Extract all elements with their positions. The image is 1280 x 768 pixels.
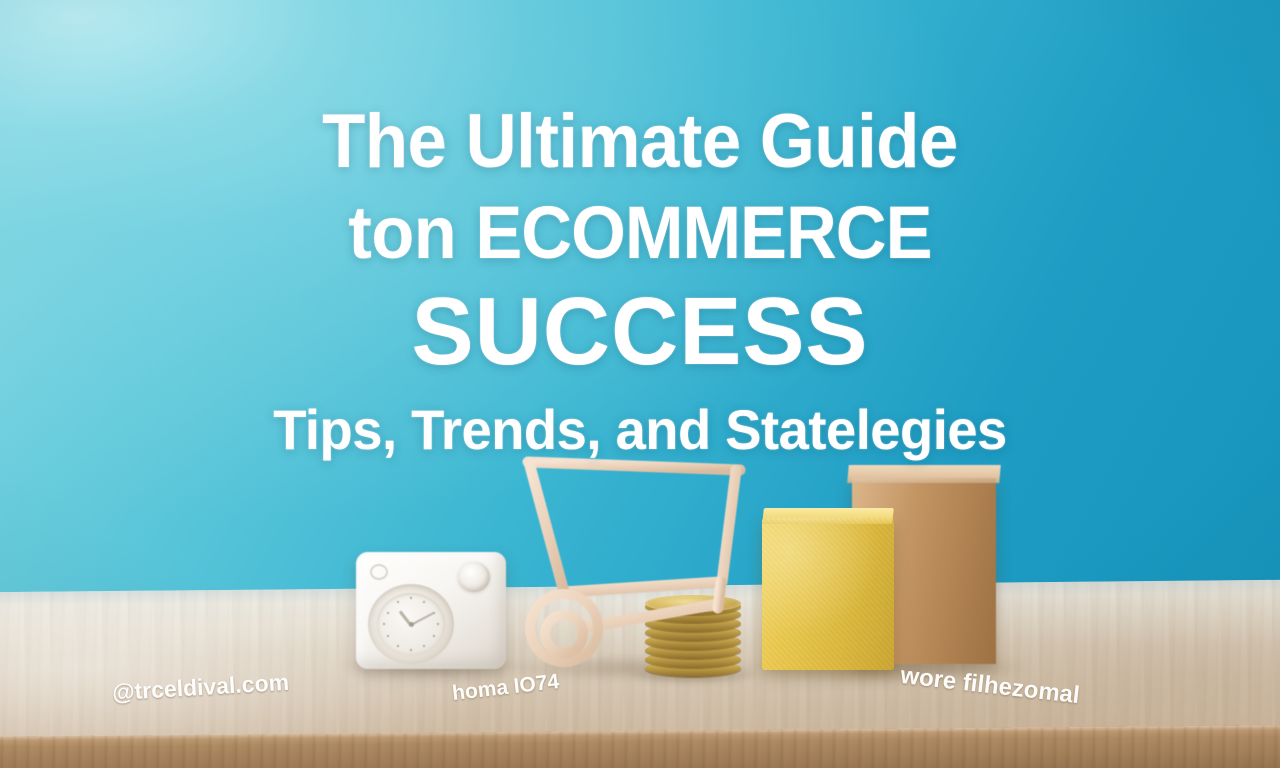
clock-face	[377, 593, 445, 655]
shopping-cart-icon	[512, 432, 792, 680]
clock-tick-7	[397, 645, 399, 647]
clock-tick-5	[423, 645, 425, 647]
clock-tick-4	[433, 635, 435, 637]
headline-line-2-caps: ECOMMERCE	[475, 191, 931, 274]
headline-line-1: The Ultimate Guide	[45, 104, 1235, 180]
clock-tick-11	[397, 601, 399, 603]
headline-line-4: Tips, Trends, and Statelegies	[19, 402, 1261, 458]
headline-line-2-lowercase: ton	[348, 191, 475, 274]
clock-tick-10	[387, 612, 389, 614]
clock-knob	[458, 562, 490, 592]
clock-tick-12	[410, 597, 412, 599]
clock-small-dial-icon	[370, 564, 388, 580]
headline-line-2: ton ECOMMERCE	[32, 196, 1248, 270]
clock-tick-1	[423, 601, 425, 603]
clock-bezel	[368, 584, 454, 664]
headline-line-3: SUCCESS	[19, 284, 1261, 380]
ecommerce-banner-image: The Ultimate Guide ton ECOMMERCE SUCCESS…	[0, 0, 1280, 768]
clock-tick-3	[437, 623, 439, 625]
headline-block: The Ultimate Guide ton ECOMMERCE SUCCESS…	[0, 104, 1280, 458]
clock-tick-9	[383, 623, 385, 625]
clock-tick-6	[410, 649, 412, 651]
clock-center-pin	[409, 622, 414, 627]
white-alarm-clock	[356, 552, 506, 669]
clock-minute-hand	[411, 612, 435, 626]
clock-tick-8	[387, 635, 389, 637]
